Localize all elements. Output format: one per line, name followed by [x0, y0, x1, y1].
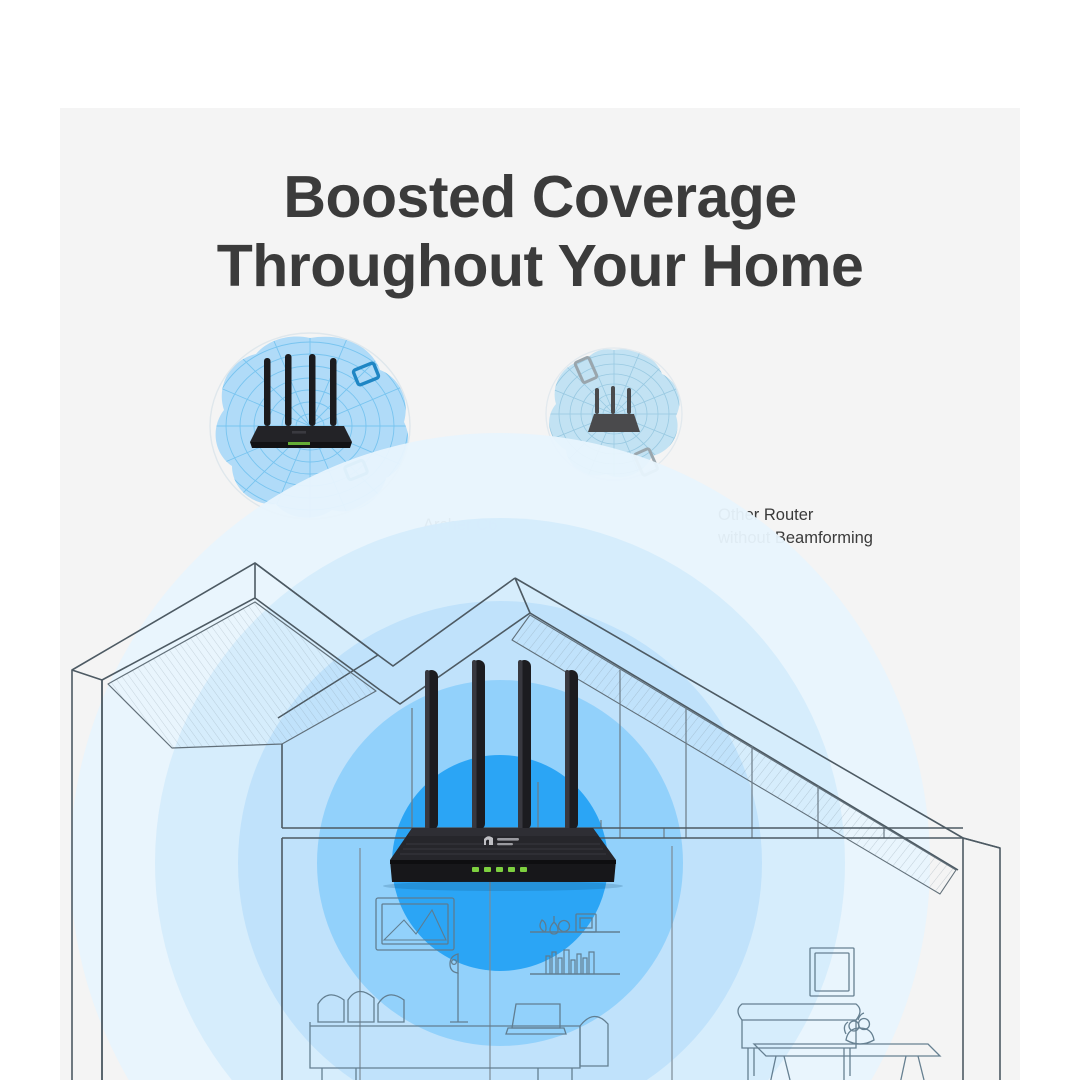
signal-ripples [70, 433, 930, 1080]
house-scene [60, 408, 1020, 1080]
headline-line-2: Throughout Your Home [60, 232, 1020, 301]
headline-line-1: Boosted Coverage [283, 164, 796, 230]
page-title: Boosted Coverage Throughout Your Home [60, 163, 1020, 301]
content-panel: Boosted Coverage Throughout Your Home [60, 108, 1020, 1080]
screenshot-root: Boosted Coverage Throughout Your Home [0, 0, 1080, 1080]
house-illustration [60, 408, 1020, 1080]
